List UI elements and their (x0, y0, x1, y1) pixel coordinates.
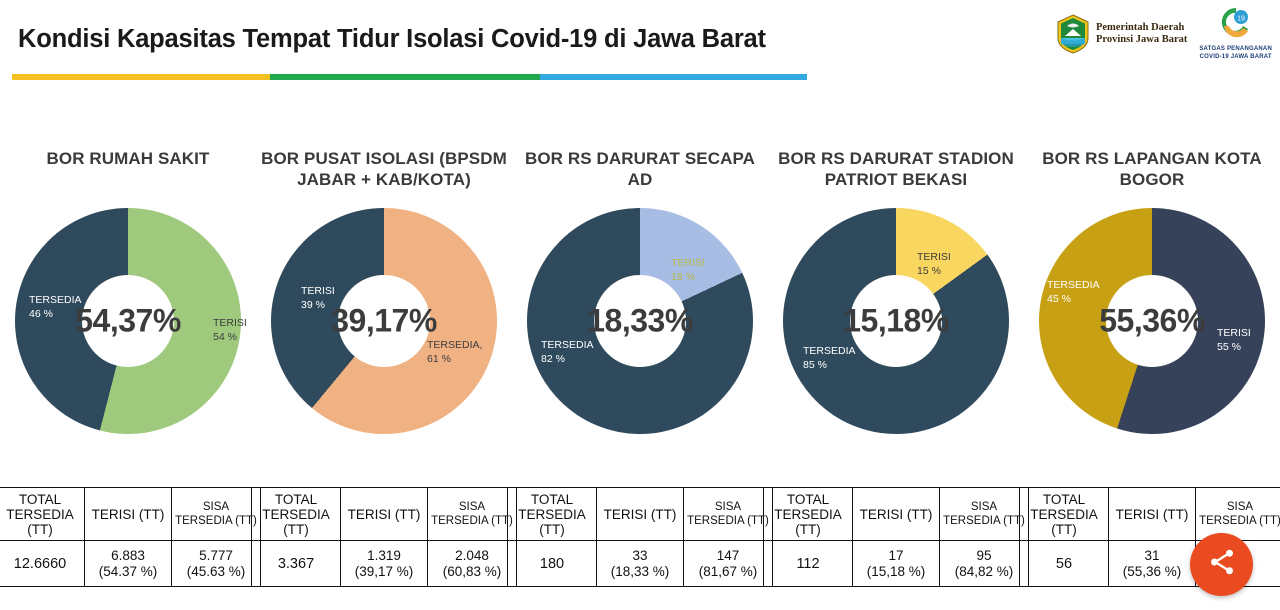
cell-terisi: 6.883 (54.37 %) (85, 541, 172, 587)
cell-terisi-pct: (55,36 %) (1111, 564, 1193, 580)
summary-table-bor-pusat-isolasi: TOTAL TERSEDIA (TT) TERISI (TT) SISA TER… (251, 487, 517, 587)
cell-sisa: 5.777 (45.63 %) (172, 541, 261, 587)
donut-center-value: 39,17% (331, 303, 437, 340)
page-header: Kondisi Kapasitas Tempat Tidur Isolasi C… (0, 0, 1280, 100)
donut-center-value: 15,18% (843, 303, 949, 340)
slice-label-tersedia: TERSEDIA 45 % (1047, 278, 1100, 306)
cell-terisi-value: 33 (599, 548, 681, 564)
cell-terisi-value: 6.883 (87, 548, 169, 564)
table-header-row: TOTAL TERSEDIA (TT) TERISI (TT) SISA TER… (1020, 488, 1280, 541)
satgas-circle-icon: 19 (1216, 6, 1256, 44)
donut-wrap: 54,37% TERISI 54 % TERSEDIA 46 % (15, 208, 241, 434)
table-header-row: TOTAL TERSEDIA (TT) TERISI (TT) SISA TER… (252, 488, 517, 541)
cell-total: 12.6660 (0, 541, 85, 587)
cell-sisa-value: 147 (686, 548, 770, 564)
svg-text:19: 19 (1237, 16, 1245, 23)
chart-card-bor-rs-darurat-stadion-patriot-bekasi: BOR RS DARURAT STADION PATRIOT BEKASI 15… (768, 140, 1024, 470)
logo-jabar-line2: Provinsi Jawa Barat (1096, 34, 1187, 46)
col-terisi: TERISI (TT) (85, 488, 172, 541)
summary-table-row: TOTAL TERSEDIA (TT) TERISI (TT) SISA TER… (0, 487, 1280, 587)
col-terisi: TERISI (TT) (853, 488, 940, 541)
cell-sisa-value: 5.777 (174, 548, 258, 564)
cell-terisi-pct: (39,17 %) (343, 564, 425, 580)
cell-sisa-pct: (84,82 %) (942, 564, 1026, 580)
chart-card-bor-rs-darurat-secapa-ad: BOR RS DARURAT SECAPA AD 18,33% TERISI 1… (512, 140, 768, 470)
chart-title: BOR RUMAH SAKIT (47, 148, 210, 194)
table-header-row: TOTAL TERSEDIA (TT) TERISI (TT) SISA TER… (764, 488, 1029, 541)
slice-label-terisi: TERISI 55 % (1217, 326, 1251, 354)
rule-segment-blue (540, 74, 807, 80)
cell-terisi: 33 (18,33 %) (597, 541, 684, 587)
table-header-row: TOTAL TERSEDIA (TT) TERISI (TT) SISA TER… (0, 488, 261, 541)
rule-segment-green (270, 74, 540, 80)
cell-total: 112 (764, 541, 853, 587)
table-row: 3.367 1.319 (39,17 %) 2.048 (60,83 %) (252, 541, 517, 587)
donut-center-value: 55,36% (1099, 303, 1205, 340)
table-row: 112 17 (15,18 %) 95 (84,82 %) (764, 541, 1029, 587)
summary-table-cell: TOTAL TERSEDIA (TT) TERISI (TT) SISA TER… (768, 487, 1024, 587)
slice-label-terisi: TERISI 18 % (671, 256, 705, 284)
logo-jabar-text: Pemerintah Daerah Provinsi Jawa Barat (1096, 22, 1187, 46)
table-header-row: TOTAL TERSEDIA (TT) TERISI (TT) SISA TER… (508, 488, 773, 541)
cell-terisi-value: 31 (1111, 548, 1193, 564)
col-total-tersedia: TOTAL TERSEDIA (TT) (764, 488, 853, 541)
summary-table-cell: TOTAL TERSEDIA (TT) TERISI (TT) SISA TER… (256, 487, 512, 587)
slice-label-tersedia: TERSEDIA, 61 % (427, 338, 482, 366)
summary-table-cell: TOTAL TERSEDIA (TT) TERISI (TT) SISA TER… (512, 487, 768, 587)
cell-total: 3.367 (252, 541, 341, 587)
chart-title: BOR PUSAT ISOLASI (BPSDM JABAR + KAB/KOT… (256, 148, 512, 194)
col-total-tersedia: TOTAL TERSEDIA (TT) (0, 488, 85, 541)
jabar-coat-of-arms-icon (1056, 14, 1090, 54)
summary-table-bor-rumah-sakit: TOTAL TERSEDIA (TT) TERISI (TT) SISA TER… (0, 487, 261, 587)
cell-sisa: 147 (81,67 %) (684, 541, 773, 587)
col-sisa-tersedia: SISA TERSEDIA (TT) (940, 488, 1029, 541)
cell-terisi: 1.319 (39,17 %) (341, 541, 428, 587)
cell-sisa: 95 (84,82 %) (940, 541, 1029, 587)
slice-label-tersedia: TERSEDIA 85 % (803, 344, 856, 372)
donut-wrap: 55,36% TERISI 55 % TERSEDIA 45 % (1039, 208, 1265, 434)
cell-sisa-pct: (81,67 %) (686, 564, 770, 580)
col-terisi: TERISI (TT) (597, 488, 684, 541)
slice-label-tersedia: TERSEDIA 46 % (29, 293, 82, 321)
cell-total: 180 (508, 541, 597, 587)
donut-wrap: 18,33% TERISI 18 % TERSEDIA 82 % (527, 208, 753, 434)
table-row: 180 33 (18,33 %) 147 (81,67 %) (508, 541, 773, 587)
table-row: 12.6660 6.883 (54.37 %) 5.777 (45.63 %) (0, 541, 261, 587)
col-terisi: TERISI (TT) (1109, 488, 1196, 541)
summary-table-bor-rs-darurat-stadion-patriot-bekasi: TOTAL TERSEDIA (TT) TERISI (TT) SISA TER… (763, 487, 1029, 587)
cell-sisa-pct: (45.63 %) (174, 564, 258, 580)
cell-terisi: 17 (15,18 %) (853, 541, 940, 587)
slice-label-terisi: TERISI 15 % (917, 250, 951, 278)
summary-table-bor-rs-darurat-secapa-ad: TOTAL TERSEDIA (TT) TERISI (TT) SISA TER… (507, 487, 773, 587)
donut-center-value: 18,33% (587, 303, 693, 340)
col-sisa-tersedia: SISA TERSEDIA (TT) (428, 488, 517, 541)
chart-title: BOR RS DARURAT STADION PATRIOT BEKASI (768, 148, 1024, 194)
cell-terisi: 31 (55,36 %) (1109, 541, 1196, 587)
slice-label-terisi: TERISI 39 % (301, 284, 335, 312)
cell-terisi-value: 1.319 (343, 548, 425, 564)
cell-terisi-value: 17 (855, 548, 937, 564)
rule-segment-yellow (12, 74, 270, 80)
summary-table-cell: TOTAL TERSEDIA (TT) TERISI (TT) SISA TER… (0, 487, 256, 587)
donut-center-value: 54,37% (75, 303, 181, 340)
col-total-tersedia: TOTAL TERSEDIA (TT) (252, 488, 341, 541)
cell-sisa-value: 95 (942, 548, 1026, 564)
col-sisa-tersedia: SISA TERSEDIA (TT) (684, 488, 773, 541)
logo-jabar-line1: Pemerintah Daerah (1096, 22, 1187, 34)
col-sisa-tersedia: SISA TERSEDIA (TT) (172, 488, 261, 541)
cell-terisi-pct: (15,18 %) (855, 564, 937, 580)
chart-card-bor-rumah-sakit: BOR RUMAH SAKIT 54,37% TERISI 54 % TERSE… (0, 140, 256, 470)
cell-sisa: 2.048 (60,83 %) (428, 541, 517, 587)
logo-satgas-covid19: 19 SATGAS PENANGANAN COVID-19 JAWA BARAT (1199, 6, 1272, 61)
title-underline-rule (12, 74, 807, 80)
col-total-tersedia: TOTAL TERSEDIA (TT) (508, 488, 597, 541)
chart-title: BOR RS DARURAT SECAPA AD (512, 148, 768, 194)
cell-sisa-pct: (60,83 %) (430, 564, 514, 580)
donut-chart-row: BOR RUMAH SAKIT 54,37% TERISI 54 % TERSE… (0, 140, 1280, 470)
col-sisa-tersedia: SISA TERSEDIA (TT) (1196, 488, 1280, 541)
cell-terisi-pct: (18,33 %) (599, 564, 681, 580)
chart-title: BOR RS LAPANGAN KOTA BOGOR (1024, 148, 1280, 194)
col-total-tersedia: TOTAL TERSEDIA (TT) (1020, 488, 1109, 541)
cell-sisa-value: 2.048 (430, 548, 514, 564)
cell-terisi-pct: (54.37 %) (87, 564, 169, 580)
logo-satgas-text: SATGAS PENANGANAN COVID-19 JAWA BARAT (1199, 46, 1272, 61)
share-button[interactable] (1190, 533, 1253, 596)
logo-group: Pemerintah Daerah Provinsi Jawa Barat 19… (1056, 6, 1272, 61)
chart-card-bor-pusat-isolasi: BOR PUSAT ISOLASI (BPSDM JABAR + KAB/KOT… (256, 140, 512, 470)
slice-label-terisi: TERISI 54 % (213, 316, 247, 344)
donut-wrap: 39,17% TERISI 39 % TERSEDIA, 61 % (271, 208, 497, 434)
logo-satgas-line2: COVID-19 JAWA BARAT (1199, 54, 1272, 62)
slice-label-tersedia: TERSEDIA 82 % (541, 338, 594, 366)
share-icon (1207, 547, 1237, 582)
logo-satgas-line1: SATGAS PENANGANAN (1199, 46, 1272, 54)
logo-pemerintah-daerah-jawa-barat: Pemerintah Daerah Provinsi Jawa Barat (1056, 14, 1187, 54)
chart-card-bor-rs-lapangan-kota-bogor: BOR RS LAPANGAN KOTA BOGOR 55,36% TERISI… (1024, 140, 1280, 470)
cell-total: 56 (1020, 541, 1109, 587)
donut-wrap: 15,18% TERISI 15 % TERSEDIA 85 % (783, 208, 1009, 434)
col-terisi: TERISI (TT) (341, 488, 428, 541)
page-title: Kondisi Kapasitas Tempat Tidur Isolasi C… (18, 25, 766, 54)
